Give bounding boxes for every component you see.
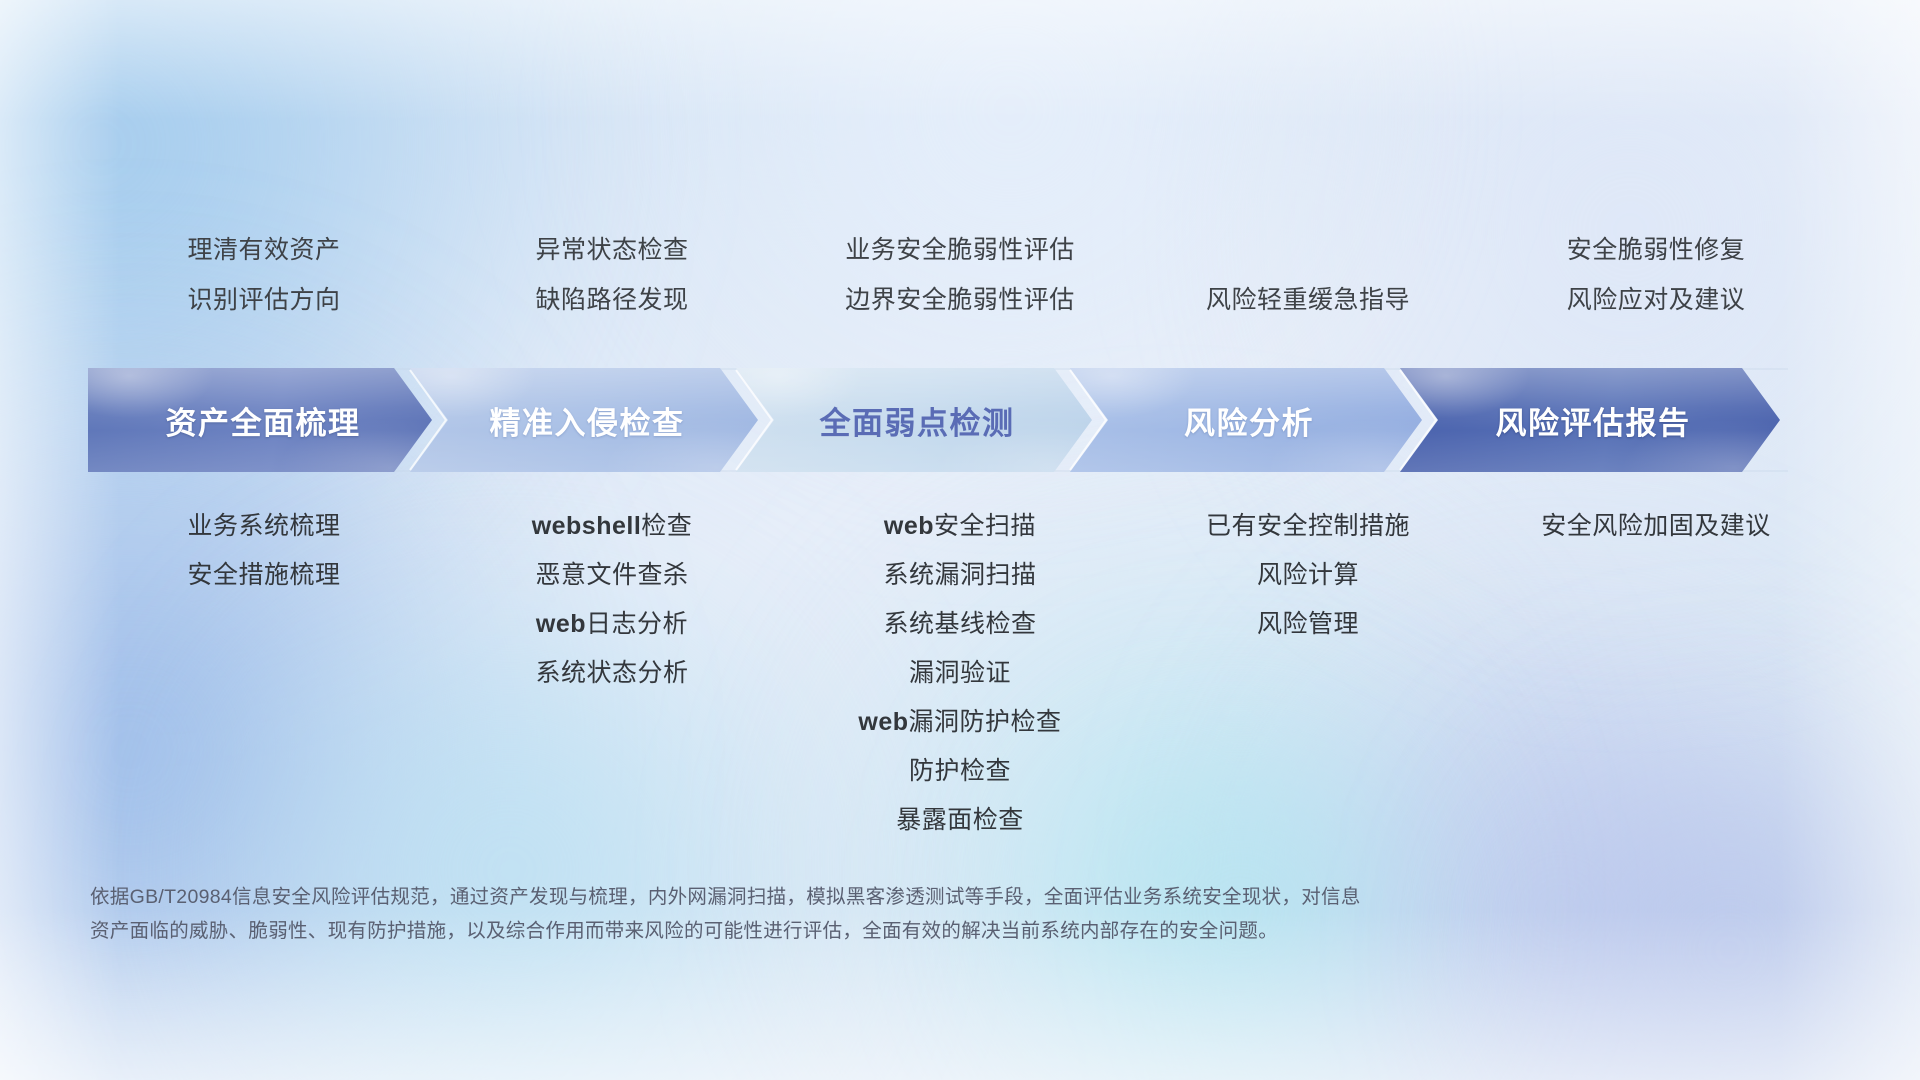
- bottom-label: 风险管理: [1257, 600, 1359, 649]
- bottom-label: 防护检查: [909, 747, 1011, 796]
- bottom-label-latin: web: [858, 708, 908, 736]
- bottom-label-group-risk-report: 安全风险加固及建议: [1482, 502, 1830, 551]
- top-label: 理清有效资产: [187, 225, 340, 275]
- top-label: 业务安全脆弱性评估: [845, 225, 1075, 275]
- bottom-label: 业务系统梳理: [187, 502, 340, 551]
- bottom-label: web漏洞防护检查: [858, 698, 1061, 747]
- stage-arrow-weakness-detection[interactable]: 全面弱点检测: [736, 368, 1092, 472]
- top-label: 异常状态检查: [535, 225, 688, 275]
- bottom-label-group-risk-analysis: 已有安全控制措施 风险计算 风险管理: [1134, 502, 1482, 649]
- bottom-label-zh: 检查: [641, 512, 692, 540]
- bottom-label-zh: 漏洞防护检查: [909, 708, 1062, 736]
- bottom-label-group-asset-inventory: 业务系统梳理 安全措施梳理: [90, 502, 438, 600]
- stage-title: 精准入侵检查: [484, 398, 685, 443]
- top-label-group-intrusion-check: 异常状态检查 缺陷路径发现: [438, 225, 786, 325]
- stage-title: 资产全面梳理: [160, 398, 361, 443]
- bottom-label: 漏洞验证: [909, 649, 1011, 698]
- bottom-label-zh: 日志分析: [586, 610, 688, 638]
- bottom-label-group-weakness-detection: web安全扫描 系统漏洞扫描 系统基线检查 漏洞验证 web漏洞防护检查 防护检…: [786, 502, 1134, 845]
- top-label-group-asset-inventory: 理清有效资产 识别评估方向: [90, 225, 438, 325]
- top-label: 识别评估方向: [187, 275, 340, 325]
- stage-arrow-asset-inventory[interactable]: 资产全面梳理: [88, 368, 432, 472]
- top-label-group-weakness-detection: 业务安全脆弱性评估 边界安全脆弱性评估: [786, 225, 1134, 325]
- top-label-group-risk-analysis: 风险轻重缓急指导: [1134, 225, 1482, 325]
- top-label: 缺陷路径发现: [535, 275, 688, 325]
- bottom-label: web安全扫描: [884, 502, 1036, 551]
- stage-arrow-risk-report[interactable]: 风险评估报告: [1400, 368, 1780, 472]
- stage-arrow-band: 资产全面梳理 精准入侵检查 全面弱点检测 风险分析 风险评估报告: [88, 368, 1836, 472]
- process-diagram: 理清有效资产 识别评估方向 异常状态检查 缺陷路径发现 业务安全脆弱性评估 边界…: [0, 0, 1920, 1080]
- footer-description: 依据GB/T20984信息安全风险评估规范，通过资产发现与梳理，内外网漏洞扫描，…: [90, 880, 1390, 948]
- top-label: 安全脆弱性修复: [1567, 225, 1746, 275]
- footer-line-1: 依据GB/T20984信息安全风险评估规范，通过资产发现与梳理，内外网漏洞扫描，…: [90, 880, 1390, 914]
- top-label: 风险应对及建议: [1567, 275, 1746, 325]
- bottom-label: 恶意文件查杀: [535, 551, 688, 600]
- top-labels-row: 理清有效资产 识别评估方向 异常状态检查 缺陷路径发现 业务安全脆弱性评估 边界…: [90, 225, 1830, 325]
- bottom-label: 暴露面检查: [896, 796, 1024, 845]
- stage-arrow-intrusion-check[interactable]: 精准入侵检查: [410, 368, 758, 472]
- footer-line-2: 资产面临的威胁、脆弱性、现有防护措施，以及综合作用而带来风险的可能性进行评估，全…: [90, 914, 1390, 948]
- bottom-label-latin: web: [884, 512, 934, 540]
- bottom-label: 系统漏洞扫描: [883, 551, 1036, 600]
- bottom-label: webshell检查: [532, 502, 693, 551]
- stage-title: 风险分析: [1178, 398, 1314, 443]
- bottom-labels-row: 业务系统梳理 安全措施梳理 webshell检查 恶意文件查杀 web日志分析 …: [90, 502, 1830, 845]
- bottom-label: 系统状态分析: [535, 649, 688, 698]
- top-label: 风险轻重缓急指导: [1206, 275, 1410, 325]
- bottom-label-group-intrusion-check: webshell检查 恶意文件查杀 web日志分析 系统状态分析: [438, 502, 786, 698]
- bottom-label-latin: web: [536, 610, 586, 638]
- stage-arrow-risk-analysis[interactable]: 风险分析: [1070, 368, 1422, 472]
- bottom-label: web日志分析: [536, 600, 688, 649]
- bottom-label: 已有安全控制措施: [1206, 502, 1410, 551]
- bottom-label: 安全措施梳理: [187, 551, 340, 600]
- bottom-label: 系统基线检查: [883, 600, 1036, 649]
- top-label: 边界安全脆弱性评估: [845, 275, 1075, 325]
- bottom-label: 安全风险加固及建议: [1541, 502, 1771, 551]
- top-label-group-risk-report: 安全脆弱性修复 风险应对及建议: [1482, 225, 1830, 325]
- stage-title: 全面弱点检测: [814, 398, 1015, 443]
- stage-title: 风险评估报告: [1490, 398, 1691, 443]
- bottom-label: 风险计算: [1257, 551, 1359, 600]
- bottom-label-latin: webshell: [532, 512, 642, 540]
- bottom-label-zh: 安全扫描: [934, 512, 1036, 540]
